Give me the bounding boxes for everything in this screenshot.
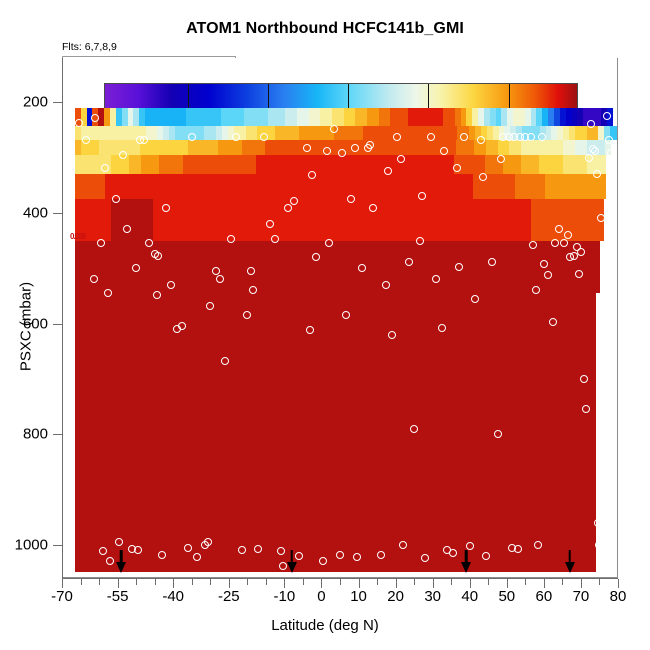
observation-point xyxy=(471,295,479,303)
y-axis-tick-label: 800 xyxy=(23,426,48,443)
observation-point xyxy=(154,252,162,260)
observation-point xyxy=(577,248,585,256)
observation-point xyxy=(549,318,557,326)
observation-point xyxy=(101,164,109,172)
y-axis-tick xyxy=(53,545,62,546)
x-axis-tick xyxy=(581,579,582,588)
observation-point xyxy=(330,125,338,133)
observation-point xyxy=(455,263,463,271)
x-axis-tick xyxy=(321,579,322,588)
x-axis-tick xyxy=(62,579,63,588)
observation-point xyxy=(591,147,599,155)
x-axis-tick-label: 30 xyxy=(424,588,441,605)
observation-point xyxy=(575,270,583,278)
x-axis-minor-tick xyxy=(136,579,137,585)
x-axis-minor-tick xyxy=(303,579,304,585)
heatmap-cell xyxy=(590,293,597,572)
observation-point xyxy=(488,258,496,266)
observation-point xyxy=(247,267,255,275)
x-axis-title: Latitude (deg N) xyxy=(0,617,650,634)
observation-point xyxy=(529,241,537,249)
x-axis-minor-tick xyxy=(155,579,156,585)
observation-point xyxy=(585,154,593,162)
flight-arrow-icon xyxy=(565,562,575,573)
x-axis-tick xyxy=(118,579,119,588)
observation-point xyxy=(347,195,355,203)
y-axis-tick xyxy=(53,324,62,325)
y-axis-title: PSXC (mbar) xyxy=(18,227,35,427)
observation-point xyxy=(393,133,401,141)
observation-point xyxy=(527,133,535,141)
observation-point xyxy=(560,239,568,247)
observation-point xyxy=(397,155,405,163)
x-axis-tick xyxy=(470,579,471,588)
observation-point xyxy=(75,119,83,127)
observation-point xyxy=(319,557,327,565)
x-axis-tick-label: -25 xyxy=(218,588,240,605)
x-axis-minor-tick xyxy=(192,579,193,585)
x-axis-tick xyxy=(544,579,545,588)
y-axis-tick xyxy=(53,434,62,435)
observation-point xyxy=(336,551,344,559)
x-axis-tick-label: 70 xyxy=(573,588,590,605)
x-axis-tick xyxy=(284,579,285,588)
observation-point xyxy=(188,133,196,141)
observation-point xyxy=(353,553,361,561)
observation-point xyxy=(232,133,240,141)
flights-label: Flts: 6,7,8,9 xyxy=(62,41,117,53)
x-axis-minor-tick xyxy=(451,579,452,585)
observation-point xyxy=(277,547,285,555)
observation-point xyxy=(184,544,192,552)
observation-point xyxy=(607,149,615,157)
x-axis-tick-label: -55 xyxy=(107,588,129,605)
observation-point xyxy=(440,147,448,155)
observation-point xyxy=(421,554,429,562)
y-axis-tick xyxy=(53,213,62,214)
observation-point xyxy=(449,549,457,557)
x-axis-tick-label: 10 xyxy=(350,588,367,605)
observation-point xyxy=(295,552,303,560)
observation-point xyxy=(221,357,229,365)
x-axis-tick xyxy=(359,579,360,588)
y-axis-line xyxy=(62,58,63,579)
observation-point xyxy=(227,235,235,243)
observation-point xyxy=(204,538,212,546)
observation-point xyxy=(595,541,603,549)
observation-point xyxy=(132,264,140,272)
observation-point xyxy=(358,264,366,272)
observation-point xyxy=(497,155,505,163)
observation-point xyxy=(479,173,487,181)
x-axis-tick-label: 0 xyxy=(317,588,325,605)
observation-point xyxy=(134,546,142,554)
observation-point xyxy=(587,120,595,128)
x-axis-tick xyxy=(396,579,397,588)
observation-point xyxy=(254,545,262,553)
observation-point xyxy=(153,291,161,299)
observation-point xyxy=(271,235,279,243)
observation-point xyxy=(123,225,131,233)
observation-point xyxy=(178,322,186,330)
observation-point xyxy=(306,326,314,334)
observation-point xyxy=(600,563,608,571)
observation-point xyxy=(460,133,468,141)
observation-point xyxy=(216,275,224,283)
observation-point xyxy=(377,551,385,559)
observation-point xyxy=(482,552,490,560)
observation-point xyxy=(388,331,396,339)
observation-point xyxy=(260,133,268,141)
observation-point xyxy=(399,541,407,549)
observation-point xyxy=(82,136,90,144)
observation-point xyxy=(551,239,559,247)
x-axis-minor-tick xyxy=(488,579,489,585)
x-axis-tick xyxy=(229,579,230,588)
observation-point xyxy=(382,281,390,289)
x-axis-minor-tick xyxy=(414,579,415,585)
observation-point xyxy=(603,112,611,120)
flight-arrow-icon xyxy=(116,562,126,573)
observation-point xyxy=(410,425,418,433)
heatmap-cell xyxy=(594,241,601,294)
x-axis-minor-tick xyxy=(210,579,211,585)
observation-point xyxy=(466,542,474,550)
observation-point xyxy=(538,133,546,141)
observation-point xyxy=(438,324,446,332)
observation-point xyxy=(162,204,170,212)
observation-point xyxy=(290,197,298,205)
flight-arrow-icon xyxy=(461,562,471,573)
x-axis-minor-tick xyxy=(99,579,100,585)
x-axis-minor-tick xyxy=(599,579,600,585)
observation-point xyxy=(119,151,127,159)
observation-point xyxy=(605,136,613,144)
x-axis-tick-label: -70 xyxy=(51,588,73,605)
x-axis-tick-label: 80 xyxy=(610,588,627,605)
observation-point xyxy=(532,286,540,294)
x-axis-tick xyxy=(618,579,619,588)
x-axis-tick-label: 60 xyxy=(536,588,553,605)
observation-point xyxy=(303,144,311,152)
observation-point xyxy=(140,136,148,144)
observation-point xyxy=(582,405,590,413)
observation-point xyxy=(416,237,424,245)
observation-point xyxy=(284,204,292,212)
observation-point xyxy=(99,547,107,555)
y-axis-tick-label: 1000 xyxy=(15,536,48,553)
observation-point xyxy=(325,239,333,247)
observation-point xyxy=(266,220,274,228)
observation-point xyxy=(112,195,120,203)
observation-point xyxy=(212,267,220,275)
x-axis-minor-tick xyxy=(81,579,82,585)
observation-point xyxy=(534,541,542,549)
value-artifact-text: 0.028 xyxy=(70,232,85,241)
x-axis-tick xyxy=(507,579,508,588)
observation-point xyxy=(514,545,522,553)
observation-point xyxy=(145,239,153,247)
x-axis-tick-label: 50 xyxy=(498,588,515,605)
observation-point xyxy=(338,149,346,157)
x-axis-minor-tick xyxy=(340,579,341,585)
page-title: ATOM1 Northbound HCFC141b_GMI xyxy=(0,20,650,38)
observation-point xyxy=(312,253,320,261)
observation-point xyxy=(593,170,601,178)
x-axis-tick-label: 20 xyxy=(387,588,404,605)
observation-point xyxy=(580,375,588,383)
observation-point xyxy=(594,519,602,527)
heatmap-cell xyxy=(599,174,606,199)
y-axis-tick-label: 400 xyxy=(23,204,48,221)
observation-point xyxy=(104,289,112,297)
observation-point xyxy=(366,141,374,149)
observation-point xyxy=(597,214,605,222)
observation-point xyxy=(91,114,99,122)
observation-point xyxy=(90,275,98,283)
x-axis-minor-tick xyxy=(266,579,267,585)
observation-point xyxy=(555,225,563,233)
observation-point xyxy=(249,286,257,294)
y-axis-tick-label: 200 xyxy=(23,94,48,111)
flight-arrow-icon xyxy=(287,562,297,573)
observation-point xyxy=(308,171,316,179)
observation-point xyxy=(494,430,502,438)
observation-point xyxy=(106,557,114,565)
observation-point xyxy=(206,302,214,310)
observation-point xyxy=(405,258,413,266)
x-axis-minor-tick xyxy=(525,579,526,585)
observation-point xyxy=(351,144,359,152)
observation-point xyxy=(418,192,426,200)
observation-point xyxy=(540,260,548,268)
y-axis-tick xyxy=(53,102,62,103)
x-axis-tick-label: -10 xyxy=(274,588,296,605)
observation-point xyxy=(369,204,377,212)
x-axis-minor-tick xyxy=(247,579,248,585)
observation-point xyxy=(323,147,331,155)
observation-point xyxy=(279,562,287,570)
x-axis-tick xyxy=(173,579,174,588)
x-axis-tick-label: -40 xyxy=(162,588,184,605)
observation-point xyxy=(342,311,350,319)
observation-point xyxy=(158,551,166,559)
x-axis-tick-label: 40 xyxy=(461,588,478,605)
observation-point xyxy=(544,271,552,279)
x-axis-minor-tick xyxy=(562,579,563,585)
plot-root: ATOM1 Northbound HCFC141b_GMI Flts: 6,7,… xyxy=(0,0,650,650)
observation-point xyxy=(238,546,246,554)
observation-point xyxy=(477,136,485,144)
observation-point xyxy=(97,239,105,247)
observation-point xyxy=(427,133,435,141)
x-axis-minor-tick xyxy=(377,579,378,585)
x-axis-tick xyxy=(433,579,434,588)
observation-point xyxy=(243,311,251,319)
observation-point xyxy=(193,553,201,561)
observation-point xyxy=(167,281,175,289)
observation-point xyxy=(384,167,392,175)
heatmap-data-area: 0.028 xyxy=(62,58,618,578)
observation-point xyxy=(432,275,440,283)
observation-point xyxy=(453,164,461,172)
observation-point xyxy=(564,231,572,239)
observation-point xyxy=(115,538,123,546)
